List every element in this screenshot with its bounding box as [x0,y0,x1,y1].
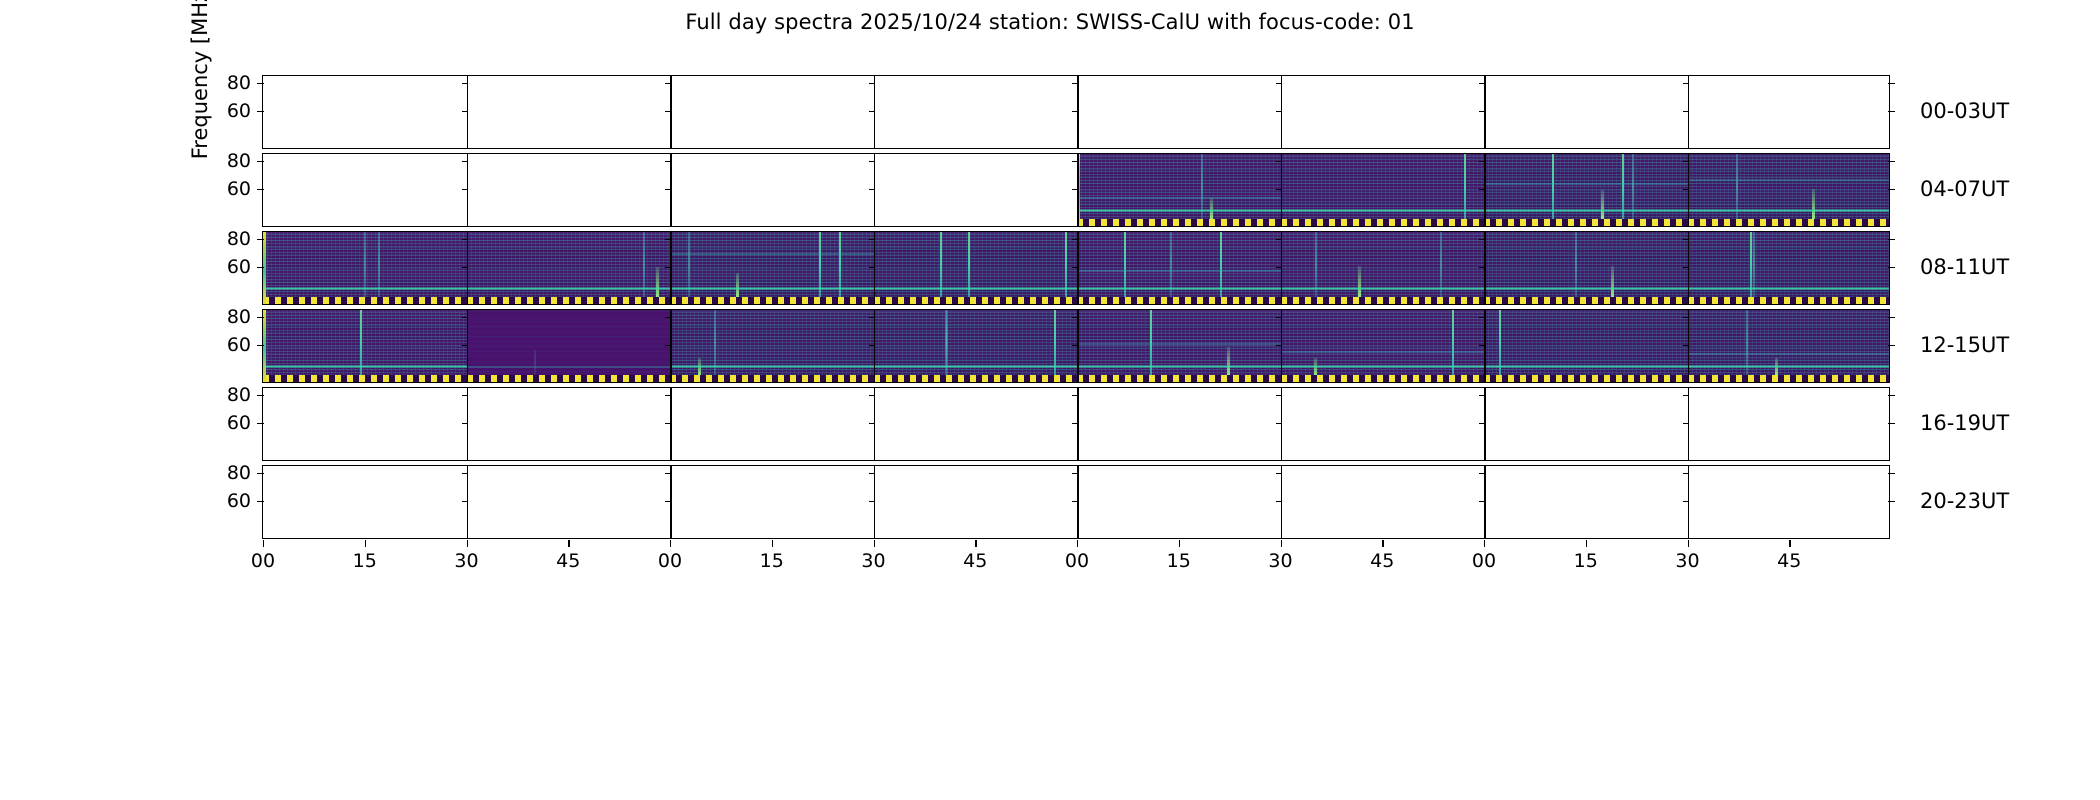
y-tick-stub [1072,111,1078,112]
row-label-00-03ut: 00-03UT [1920,99,2009,123]
y-tick-stub [869,501,875,502]
x-tick-label: 30 [1268,550,1292,572]
spectrogram-subpanel [467,232,671,304]
spectrogram-subpanel [670,232,874,304]
y-tick-stub [1072,161,1078,162]
row-label-20-23ut: 20-23UT [1920,489,2009,513]
spectrogram-noise-texture [1688,310,1890,382]
y-tick-stub [1683,423,1689,424]
y-tick-stub [1072,83,1078,84]
y-tick-stub [869,473,875,474]
y-tick-stub [665,317,671,318]
spectrogram-subpanel [874,232,1078,304]
y-tick-stub [1276,83,1282,84]
emission-burst [1227,347,1230,375]
spectrogram-noise-texture [1484,232,1688,304]
y-tick-stub [1276,189,1282,190]
y-tick-stub [1276,423,1282,424]
spectrogram-subpanel [1688,232,1890,304]
x-tick-label: 00 [1472,550,1496,572]
y-tick-stub [462,345,468,346]
y-tick-stub [665,161,671,162]
emission-band [1281,287,1485,290]
y-tick-stub [1276,111,1282,112]
y-tick-stub [869,239,875,240]
emission-band [1484,209,1688,212]
y-tick-stub [1683,83,1689,84]
spectrogram-subpanel [263,310,467,382]
spectrogram-subpanel [670,310,874,382]
y-tick-stub [1072,395,1078,396]
y-tick-label: 60 [203,412,251,434]
emission-burst [1601,190,1604,219]
y-tick-mark [1888,317,1895,318]
x-tick-mark [670,540,671,547]
y-tick-stub [1479,473,1485,474]
y-tick-label: 80 [203,72,251,94]
y-tick-stub [1479,83,1485,84]
y-tick-mark [1888,161,1895,162]
spectrogram-noise-texture [1484,310,1688,382]
y-tick-label: 60 [203,178,251,200]
emission-band [1077,287,1281,290]
y-tick-stub [1276,317,1282,318]
y-tick-stub [1479,345,1485,346]
y-tick-stub [1479,317,1485,318]
spectrogram-noise-texture [874,232,1078,304]
y-tick-mark [257,501,264,502]
y-tick-label: 60 [203,490,251,512]
emission-band [467,366,671,368]
emission-burst [736,273,739,297]
x-tick-mark [365,540,366,547]
y-tick-stub [1479,267,1485,268]
emission-band [1484,183,1688,185]
y-tick-stub [1683,317,1689,318]
x-tick-mark [1179,540,1180,547]
y-tick-mark [257,473,264,474]
x-tick-label: 45 [963,550,987,572]
y-tick-mark [257,395,264,396]
y-tick-label: 60 [203,256,251,278]
y-tick-stub [462,473,468,474]
x-tick-mark [263,540,264,547]
y-tick-stub [665,111,671,112]
emission-band [670,253,874,255]
y-tick-stub [1479,111,1485,112]
x-tick-mark [1382,540,1383,547]
emission-band [1077,270,1281,272]
spectrogram-subpanel [1484,310,1688,382]
y-tick-stub [1683,395,1689,396]
spectrogram-row-16-19ut: 8060 [262,387,1890,461]
spectrogram-row-00-03ut: 8060 [262,75,1890,149]
emission-band [1077,197,1281,199]
y-tick-mark [257,111,264,112]
y-tick-label: 80 [203,462,251,484]
x-tick-label: 00 [251,550,275,572]
emission-band [874,287,1078,290]
spectrogram-subpanel [263,232,467,304]
y-tick-stub [1072,317,1078,318]
x-tick-mark [772,540,773,547]
y-tick-stub [462,189,468,190]
calibration-strip [263,297,467,304]
spectrogram-subpanel [1077,154,1281,226]
y-tick-stub [1479,501,1485,502]
spectrogram-row-08-11ut: 8060 [262,231,1890,305]
emission-band [874,365,1078,368]
emission-band [1688,353,1890,355]
emission-band [670,365,874,368]
spectrogram-subpanel [1281,310,1485,382]
y-tick-stub [462,317,468,318]
y-tick-stub [1683,345,1689,346]
calibration-strip [670,375,874,382]
y-tick-stub [665,239,671,240]
spectrogram-subpanel [1688,154,1890,226]
calibration-strip [1484,297,1688,304]
y-tick-stub [665,473,671,474]
y-tick-stub [462,239,468,240]
row-label-08-11ut: 08-11UT [1920,255,2009,279]
y-tick-mark [257,267,264,268]
row-label-04-07ut: 04-07UT [1920,177,2009,201]
y-tick-label: 60 [203,100,251,122]
spectrogram-row-20-23ut: 806000153045001530450015304500153045 [262,465,1890,539]
y-tick-label: 80 [203,150,251,172]
y-tick-stub [462,501,468,502]
y-tick-mark [257,239,264,240]
x-tick-label: 30 [1675,550,1699,572]
spectrogram-noise-texture [1077,310,1281,382]
y-tick-stub [1276,267,1282,268]
emission-band [1484,287,1688,290]
calibration-strip [1688,297,1890,304]
calibration-strip [1688,219,1890,226]
x-tick-label: 45 [1777,550,1801,572]
emission-band [1281,365,1485,368]
y-tick-stub [1479,395,1485,396]
y-tick-mark [1888,473,1895,474]
y-tick-mark [1888,345,1895,346]
emission-band [1281,351,1485,353]
x-tick-mark [1281,540,1282,547]
spectrogram-subpanel [1484,232,1688,304]
x-tick-label: 45 [1370,550,1394,572]
page-title: Full day spectra 2025/10/24 station: SWI… [0,10,2100,34]
calibration-strip [1484,219,1688,226]
y-tick-stub [462,161,468,162]
y-tick-label: 60 [203,334,251,356]
y-tick-stub [665,83,671,84]
y-tick-stub [1276,345,1282,346]
spectrogram-subpanel [467,310,671,382]
spectrogram-noise-texture [1688,154,1890,226]
y-tick-stub [1683,161,1689,162]
y-tick-mark [1888,267,1895,268]
emission-burst [656,267,659,297]
emission-band [1688,365,1890,368]
y-tick-stub [1276,501,1282,502]
calibration-strip [1281,219,1485,226]
y-tick-mark [1888,83,1895,84]
y-tick-stub [462,395,468,396]
calibration-strip [1281,297,1485,304]
y-tick-stub [665,501,671,502]
spectrogram-noise-texture [670,232,874,304]
y-tick-mark [1888,239,1895,240]
calibration-strip [670,297,874,304]
y-tick-label: 80 [203,306,251,328]
y-tick-mark [257,423,264,424]
y-tick-stub [1479,189,1485,190]
calibration-strip [467,297,671,304]
y-tick-mark [257,345,264,346]
y-tick-stub [665,395,671,396]
emission-band [1077,343,1281,345]
y-tick-stub [869,423,875,424]
emission-band [1688,179,1890,181]
y-tick-stub [665,189,671,190]
x-tick-label: 00 [658,550,682,572]
y-tick-stub [1276,161,1282,162]
y-tick-stub [1072,267,1078,268]
spectrogram-subpanel [1484,154,1688,226]
calibration-strip [874,297,1078,304]
spectrogram-noise-texture [1077,154,1281,226]
y-tick-stub [1072,345,1078,346]
x-tick-mark [1077,540,1078,547]
x-tick-mark [1586,540,1587,547]
x-tick-label: 30 [454,550,478,572]
y-tick-stub [1683,267,1689,268]
y-tick-stub [1683,111,1689,112]
emission-band [263,287,467,290]
spectrogram-noise-texture [263,310,467,382]
y-tick-stub [1072,189,1078,190]
calibration-strip [1688,375,1890,382]
y-tick-stub [1479,239,1485,240]
y-tick-mark [1888,189,1895,190]
calibration-strip [1484,375,1688,382]
calibration-strip [1077,219,1281,226]
emission-band [670,287,874,290]
y-tick-stub [1479,423,1485,424]
spectrogram-noise-texture [1077,232,1281,304]
spectrogram-row-04-07ut: 8060 [262,153,1890,227]
y-tick-stub [869,317,875,318]
y-tick-stub [1276,395,1282,396]
emission-band [1281,209,1485,212]
y-tick-mark [1888,111,1895,112]
calibration-strip [1077,297,1281,304]
x-tick-mark [975,540,976,547]
x-tick-label: 15 [1574,550,1598,572]
y-tick-mark [1888,501,1895,502]
x-tick-mark [1688,540,1689,547]
x-tick-mark [568,540,569,547]
spectrogram-noise-texture [467,310,671,382]
x-tick-mark [1484,540,1485,547]
y-tick-stub [1276,473,1282,474]
y-tick-stub [1683,239,1689,240]
calibration-strip [1281,375,1485,382]
y-tick-stub [1072,423,1078,424]
x-tick-mark [467,540,468,547]
spectrogram-subpanel [1077,232,1281,304]
calibration-strip [263,375,467,382]
emission-band [467,287,671,290]
spectrogram-noise-texture [1281,232,1485,304]
spectrogram-noise-texture [1281,154,1485,226]
emission-spike [534,350,536,376]
y-tick-mark [257,83,264,84]
y-tick-stub [1276,239,1282,240]
x-tick-label: 15 [353,550,377,572]
x-tick-label: 00 [1065,550,1089,572]
y-tick-stub [1072,473,1078,474]
y-tick-mark [257,161,264,162]
row-label-12-15ut: 12-15UT [1920,333,2009,357]
spectrogram-row-12-15ut: 8060 [262,309,1890,383]
spectrogram-noise-texture [467,232,671,304]
emission-burst [1358,266,1361,297]
y-tick-stub [869,345,875,346]
emission-band [263,365,467,368]
y-tick-stub [1683,189,1689,190]
y-tick-stub [462,423,468,424]
calibration-strip [467,375,671,382]
spectrogram-subpanel [1077,310,1281,382]
y-tick-stub [665,423,671,424]
spectrogram-noise-texture [874,310,1078,382]
y-tick-mark [1888,395,1895,396]
y-tick-stub [462,111,468,112]
emission-band [1688,287,1890,290]
x-tick-label: 30 [861,550,885,572]
spectrogram-subpanel [1688,310,1890,382]
y-tick-stub [869,83,875,84]
emission-burst [1611,266,1614,297]
y-tick-label: 80 [203,384,251,406]
y-tick-mark [257,317,264,318]
spectrogram-subpanel [874,310,1078,382]
calibration-strip [874,375,1078,382]
spectrogram-noise-texture [1688,232,1890,304]
y-tick-stub [869,189,875,190]
x-tick-label: 15 [760,550,784,572]
emission-band [1484,365,1688,368]
emission-band [1077,209,1281,212]
y-tick-stub [1683,501,1689,502]
y-tick-stub [462,83,468,84]
y-tick-stub [869,267,875,268]
spectrogram-figure: Full day spectra 2025/10/24 station: SWI… [0,0,2100,800]
y-tick-stub [665,267,671,268]
x-tick-label: 15 [1167,550,1191,572]
y-tick-stub [1479,161,1485,162]
y-tick-stub [869,161,875,162]
spectrogram-subpanel [1281,232,1485,304]
y-tick-stub [869,395,875,396]
y-tick-stub [1072,501,1078,502]
y-tick-stub [462,267,468,268]
y-tick-mark [257,189,264,190]
calibration-strip [1077,375,1281,382]
y-tick-stub [869,111,875,112]
y-tick-stub [665,345,671,346]
emission-burst [1812,189,1815,219]
y-tick-label: 80 [203,228,251,250]
x-tick-mark [1789,540,1790,547]
y-tick-stub [1683,473,1689,474]
emission-band [1688,209,1890,212]
y-tick-stub [1072,239,1078,240]
y-tick-mark [1888,423,1895,424]
x-tick-label: 45 [556,550,580,572]
emission-band [1077,365,1281,368]
spectrogram-noise-texture [1484,154,1688,226]
spectrogram-subpanel [1281,154,1485,226]
row-label-16-19ut: 16-19UT [1920,411,2009,435]
x-tick-mark [874,540,875,547]
